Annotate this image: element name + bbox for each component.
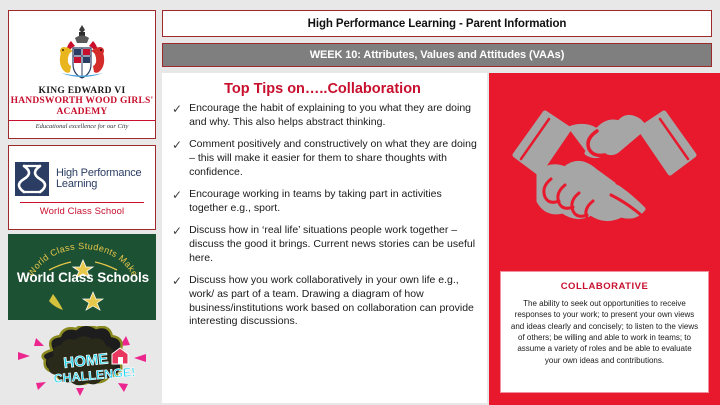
hpl-divider — [20, 202, 144, 203]
collaborative-definition-text: The ability to seek out opportunities to… — [510, 298, 699, 366]
coat-of-arms-icon — [49, 23, 115, 83]
check-icon: ✓ — [172, 274, 182, 329]
tip-item: ✓ Comment positively and constructively … — [166, 138, 479, 179]
tip-item: ✓ Discuss how you work collaboratively i… — [166, 274, 479, 329]
check-icon: ✓ — [172, 102, 182, 129]
check-icon: ✓ — [172, 138, 182, 179]
crest-line-2: HANDSWORTH WOOD GIRLS' ACADEMY — [9, 96, 155, 117]
world-class-schools-logo-box: World Class Students Make World Class Sc… — [8, 234, 156, 320]
hpl-wordmark: High Performance Learning — [56, 168, 149, 190]
page-title: High Performance Learning - Parent Infor… — [308, 18, 567, 30]
collaborative-definition-box: COLLABORATIVE The ability to seek out op… — [500, 271, 709, 393]
tip-text: Encourage the habit of explaining to you… — [189, 102, 479, 129]
hpl-subtitle: World Class School — [9, 206, 155, 217]
tip-text: Encourage working in teams by taking par… — [189, 188, 479, 215]
hpl-helix-icon — [15, 162, 49, 196]
page-title-bar: High Performance Learning - Parent Infor… — [162, 10, 712, 37]
high-performance-learning-logo-box: High Performance Learning World Class Sc… — [8, 145, 156, 230]
logo-sidebar: KING EDWARD VI HANDSWORTH WOOD GIRLS' AC… — [8, 10, 156, 402]
collaborative-title: COLLABORATIVE — [510, 281, 699, 292]
tip-item: ✓ Encourage working in teams by taking p… — [166, 188, 479, 215]
handshake-icon — [499, 79, 710, 259]
wcs-title: World Class Schools — [9, 270, 156, 285]
tip-text: Discuss how in ‘real life’ situations pe… — [189, 224, 479, 265]
check-icon: ✓ — [172, 188, 182, 215]
check-icon: ✓ — [172, 224, 182, 265]
home-challenge-icon: HOME CHALLENGE! — [8, 326, 156, 402]
tip-item: ✓ Discuss how in ‘real life’ situations … — [166, 224, 479, 265]
wcs-star-icons — [9, 290, 156, 316]
tip-text: Discuss how you work collaboratively in … — [189, 274, 479, 329]
crest-line-1: KING EDWARD VI — [9, 86, 155, 96]
top-tips-panel: Top Tips on…..Collaboration ✓ Encourage … — [162, 73, 487, 403]
top-tips-title: Top Tips on…..Collaboration — [166, 81, 479, 97]
tip-item: ✓ Encourage the habit of explaining to y… — [166, 102, 479, 129]
tip-text: Comment positively and constructively on… — [189, 138, 479, 179]
collaborative-panel: COLLABORATIVE The ability to seek out op… — [489, 73, 720, 405]
home-challenge-logo-box: HOME CHALLENGE! — [8, 326, 156, 402]
week-banner: WEEK 10: Attributes, Values and Attitude… — [162, 43, 712, 67]
crest-tagline: Educational excellence for our City — [9, 120, 155, 130]
week-banner-label: WEEK 10: Attributes, Values and Attitude… — [310, 49, 565, 61]
king-edward-vi-crest-box: KING EDWARD VI HANDSWORTH WOOD GIRLS' AC… — [8, 10, 156, 139]
slide-page: KING EDWARD VI HANDSWORTH WOOD GIRLS' AC… — [0, 0, 720, 405]
